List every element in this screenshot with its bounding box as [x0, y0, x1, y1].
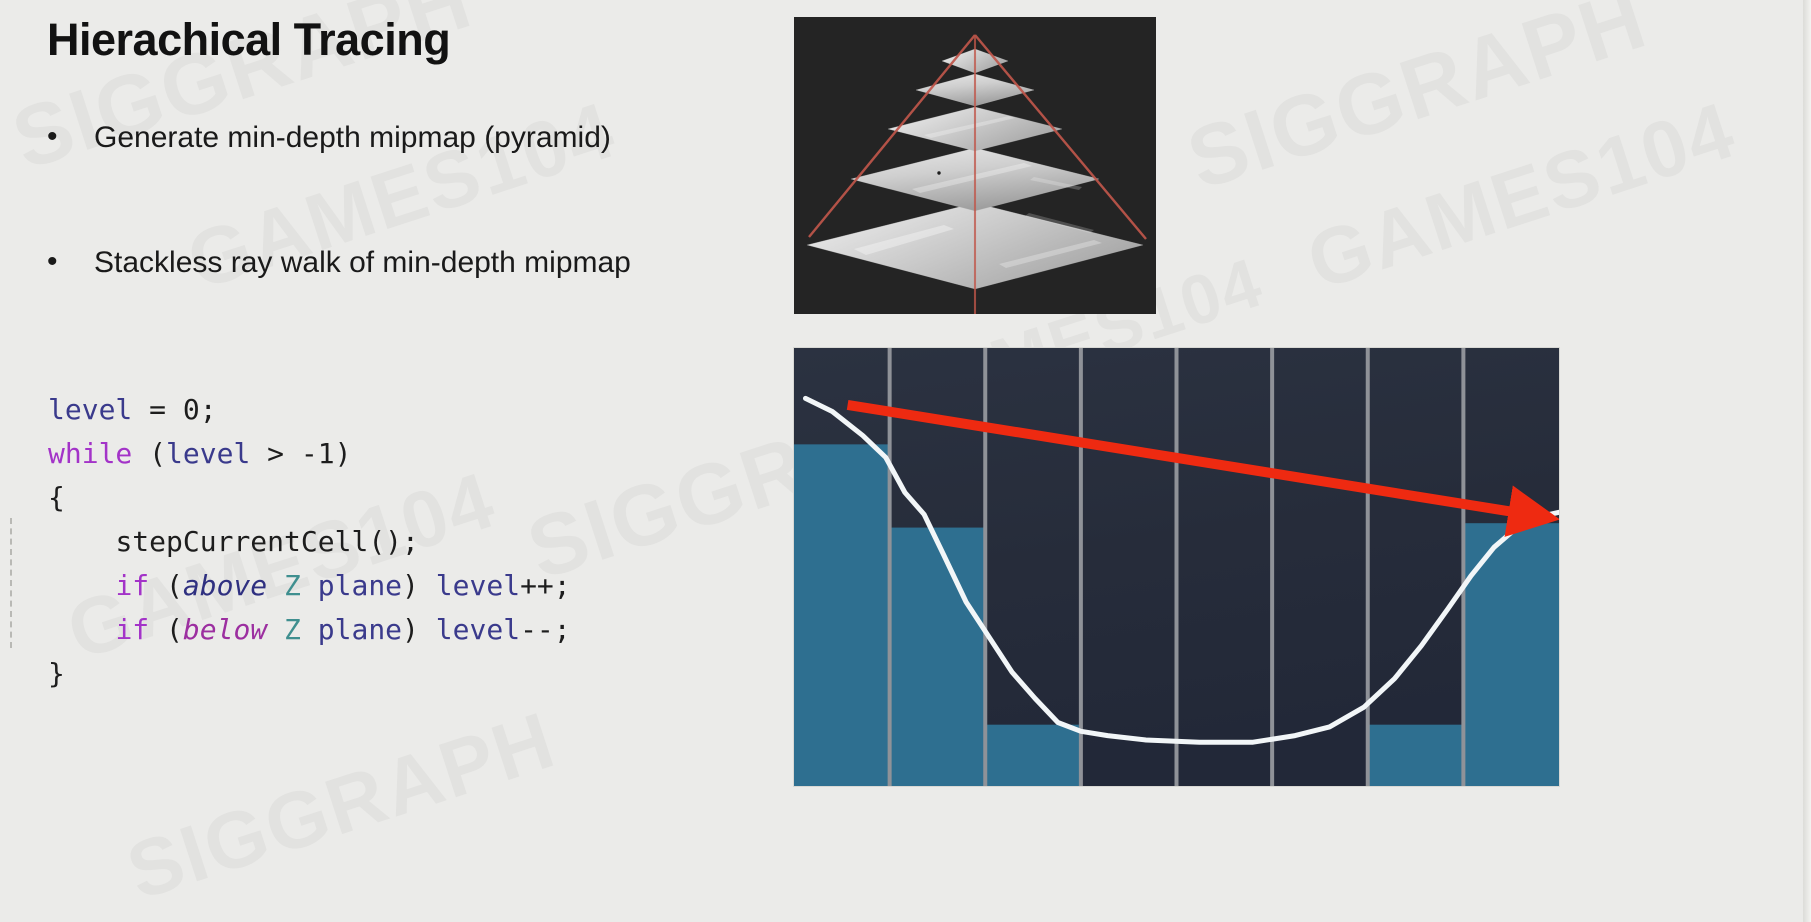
code-token: (: [132, 437, 166, 470]
code-token: [48, 613, 115, 646]
bullet-text-0: Generate min-depth mipmap (pyramid): [94, 120, 611, 156]
stackless-ray-walk-figure: [793, 347, 1560, 787]
code-token: [301, 613, 318, 646]
code-line-3: stepCurrentCell();: [48, 520, 571, 564]
code-token: above: [183, 569, 267, 602]
min-depth-cell-2: [985, 725, 1081, 786]
code-token: [48, 525, 115, 558]
min-depth-cell-6: [1368, 725, 1464, 786]
code-token: [166, 393, 183, 426]
min-depth-cell-0: [794, 444, 890, 786]
bullet-item-1: • Stackless ray walk of min-depth mipmap: [47, 245, 631, 281]
min-depth-cell-7: [1463, 523, 1559, 786]
code-token: Z: [284, 569, 301, 602]
code-token: [48, 569, 115, 602]
bullet-text-1: Stackless ray walk of min-depth mipmap: [94, 245, 631, 281]
code-token: [132, 393, 149, 426]
code-token: (: [149, 613, 183, 646]
watermark-text: GAMES104: [1297, 84, 1747, 308]
watermark-text: SIGGRAPH: [1176, 0, 1658, 210]
code-token: ): [335, 437, 352, 470]
code-token: while: [48, 437, 132, 470]
code-token: Z: [284, 613, 301, 646]
code-token: [267, 613, 284, 646]
code-token: if: [115, 569, 149, 602]
code-token: level: [166, 437, 250, 470]
speck: [937, 171, 940, 174]
code-token: ++;: [520, 569, 571, 602]
code-token: stepCurrentCell: [115, 525, 368, 558]
code-token: plane: [318, 569, 402, 602]
code-token: level: [436, 613, 520, 646]
code-token: [301, 569, 318, 602]
page-title: Hierachical Tracing: [47, 14, 450, 66]
code-token: plane: [318, 613, 402, 646]
code-token: (: [149, 569, 183, 602]
code-snippet: level = 0;while (level > -1){ stepCurren…: [48, 388, 571, 696]
code-token: ();: [368, 525, 419, 558]
code-token: 0: [183, 393, 200, 426]
code-token: level: [48, 393, 132, 426]
code-token: ): [402, 569, 436, 602]
code-line-1: while (level > -1): [48, 432, 571, 476]
code-token: ;: [200, 393, 217, 426]
bullet-item-0: • Generate min-depth mipmap (pyramid): [47, 120, 611, 156]
min-depth-mipmap-pyramid-figure: [794, 17, 1156, 314]
code-token: -1: [301, 437, 335, 470]
code-token: =: [149, 393, 166, 426]
code-line-6: }: [48, 652, 571, 696]
code-token: ): [402, 613, 436, 646]
code-token: level: [436, 569, 520, 602]
pyramid-svg: [794, 17, 1156, 314]
code-token: [267, 569, 284, 602]
code-token: --;: [520, 613, 571, 646]
code-line-4: if (above Z plane) level++;: [48, 564, 571, 608]
code-indent-guide: [10, 518, 12, 648]
code-line-2: {: [48, 476, 571, 520]
page-edge-strip: [1803, 0, 1811, 922]
bullet-marker-icon: •: [47, 245, 67, 279]
code-line-5: if (below Z plane) level--;: [48, 608, 571, 652]
heightfield-svg: [794, 348, 1559, 786]
min-depth-cell-1: [890, 528, 986, 786]
code-token: {: [48, 481, 65, 514]
code-token: }: [48, 657, 65, 690]
code-line-0: level = 0;: [48, 388, 571, 432]
code-token: if: [115, 613, 149, 646]
code-token: >: [250, 437, 301, 470]
bullet-marker-icon: •: [47, 120, 67, 154]
code-token: below: [183, 613, 267, 646]
slide-left-content: Hierachical Tracing • Generate min-depth…: [0, 0, 790, 922]
